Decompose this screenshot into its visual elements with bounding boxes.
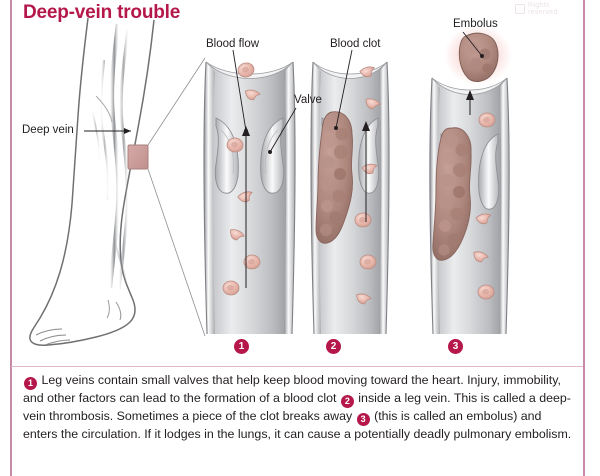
section-divider [11, 366, 583, 367]
frame-border-left [10, 0, 12, 476]
leg-illustration [30, 18, 205, 345]
vein-diagram-1 [204, 62, 295, 334]
label-deep-vein: Deep vein [22, 124, 74, 136]
embolus-glow [444, 25, 512, 85]
step-badge-1: 1 [234, 339, 249, 354]
label-valve: Valve [294, 94, 322, 106]
blood-clot-mass-3 [433, 128, 471, 261]
caption-badge-3: 3 [357, 413, 370, 426]
watermark-label: Rights reserved [528, 2, 577, 16]
blood-clot-mass-2 [316, 112, 353, 244]
clot-break-glow [444, 129, 488, 167]
label-blood-clot: Blood clot [330, 38, 381, 50]
vein-diagram-2 [311, 62, 389, 334]
vein-diagram-3 [430, 25, 512, 334]
frame-border-right [583, 0, 585, 476]
watermark-icon [515, 4, 525, 14]
label-blood-flow: Blood flow [206, 38, 259, 50]
leg-callout-region [128, 145, 148, 169]
deep-vein-leader [84, 128, 131, 134]
watermark: Rights reserved [515, 3, 577, 15]
label-embolus: Embolus [453, 18, 498, 30]
figure-caption: 1 Leg veins contain small valves that he… [23, 372, 575, 444]
step-badge-2: 2 [326, 339, 341, 354]
caption-badge-2: 2 [341, 395, 354, 408]
embolus-fragment [459, 33, 498, 81]
caption-badge-1: 1 [24, 377, 37, 390]
figure-title: Deep-vein trouble [23, 2, 180, 24]
step-badge-3: 3 [448, 339, 463, 354]
label-leaders [233, 32, 482, 152]
